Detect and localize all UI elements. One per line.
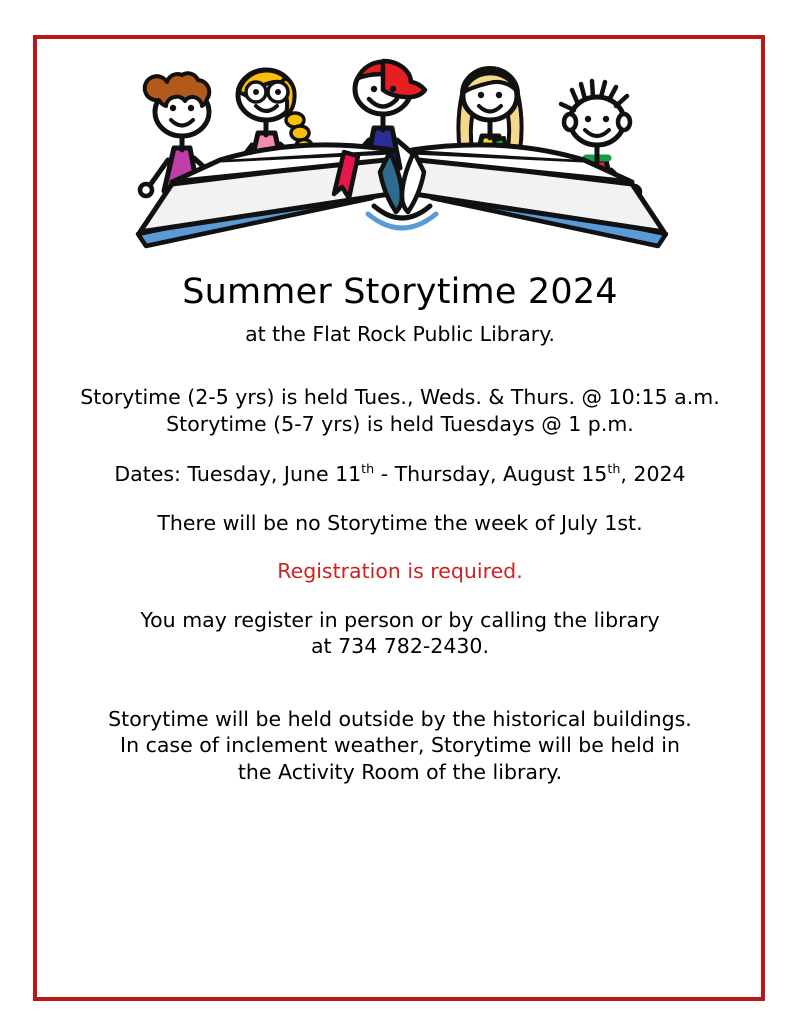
location-line-2: In case of inclement weather, Storytime … bbox=[46, 732, 754, 759]
flyer-text-content: Summer Storytime 2024 at the Flat Rock P… bbox=[46, 270, 754, 785]
dates-ordinal-august: th bbox=[607, 461, 620, 476]
children-reading-book-illustration bbox=[128, 48, 676, 253]
register-phone-line: at 734 782-2430. bbox=[46, 633, 754, 660]
flyer-poster: Summer Storytime 2024 at the Flat Rock P… bbox=[0, 0, 800, 1035]
spacer bbox=[46, 585, 754, 607]
no-storytime-note: There will be no Storytime the week of J… bbox=[46, 510, 754, 537]
dates-suffix: , 2024 bbox=[620, 462, 685, 486]
schedule-line-1: Storytime (2-5 yrs) is held Tues., Weds.… bbox=[46, 384, 754, 411]
spacer bbox=[46, 488, 754, 510]
register-line-1: You may register in person or by calling… bbox=[46, 607, 754, 634]
dates-prefix: Dates: Tuesday, June 11 bbox=[114, 462, 361, 486]
library-subtitle: at the Flat Rock Public Library. bbox=[46, 320, 754, 348]
dates-middle: - Thursday, August 15 bbox=[374, 462, 607, 486]
location-line-3: the Activity Room of the library. bbox=[46, 759, 754, 786]
registration-required-note: Registration is required. bbox=[46, 558, 754, 585]
open-book bbox=[138, 145, 666, 246]
schedule-line-2: Storytime (5-7 yrs) is held Tuesdays @ 1… bbox=[46, 411, 754, 438]
spacer bbox=[46, 348, 754, 384]
spacer bbox=[46, 660, 754, 706]
dates-ordinal-june: th bbox=[361, 461, 374, 476]
page-title: Summer Storytime 2024 bbox=[46, 270, 754, 314]
spacer bbox=[46, 437, 754, 461]
location-line-1: Storytime will be held outside by the hi… bbox=[46, 706, 754, 733]
dates-line: Dates: Tuesday, June 11th - Thursday, Au… bbox=[46, 461, 754, 488]
spacer bbox=[46, 536, 754, 558]
